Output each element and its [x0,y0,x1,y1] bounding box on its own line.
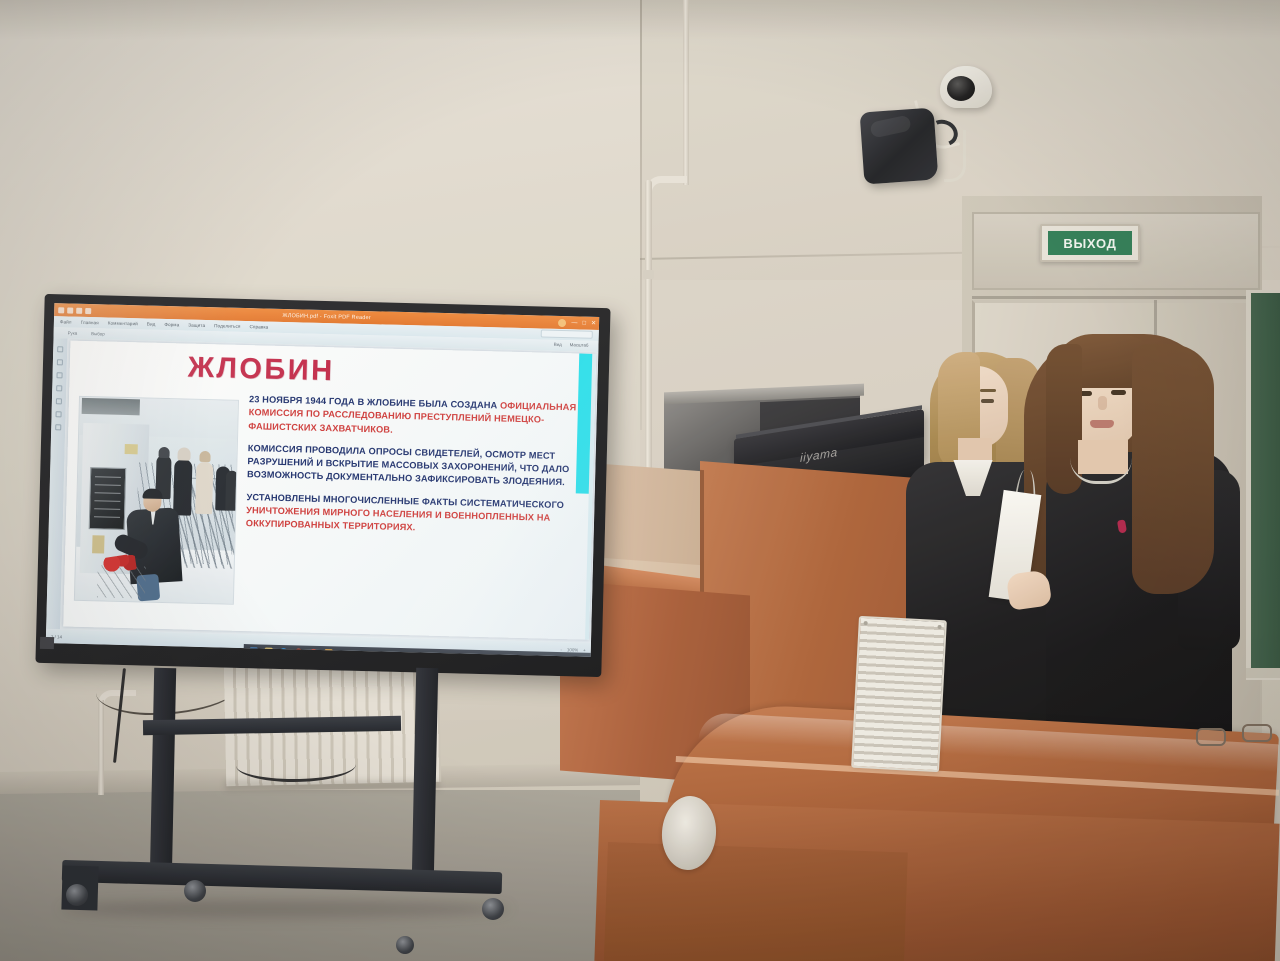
presenter-back-eye-right [981,399,994,403]
comments-icon[interactable] [56,411,62,417]
dome-camera-icon [940,66,992,108]
minimize-icon[interactable]: — [571,320,577,326]
caster-wheel-front-left [66,884,88,906]
menu-item-help[interactable]: Справка [249,324,268,329]
app-toolbar-right[interactable]: Вид Масштаб [554,342,589,348]
undo-icon [76,307,82,313]
zoom-level[interactable]: 100% [567,647,578,652]
classroom-scene: ВЫХОД iiyama [0,0,1280,961]
podium-lower-shelf [604,842,908,961]
tool-zoom[interactable]: Масштаб [570,342,589,347]
tv-screen[interactable]: ЖЛОБИН.pdf - Foxit PDF Reader — □ ✕ Файл… [46,303,599,657]
menu-item-form[interactable]: Форма [164,322,179,327]
menu-item-file[interactable]: Файл [60,319,72,324]
slide-photo [74,396,239,605]
wall-pipe-vertical [645,180,652,510]
attachments-icon[interactable] [56,372,62,378]
presenter-front-hair-right [1132,344,1214,594]
slide-body-text: 23 НОЯБРЯ 1944 ГОДА В ЖЛОБИНЕ БЫЛА СОЗДА… [245,393,587,548]
wall-speaker-icon [860,108,939,185]
exit-sign-label: ВЫХОД [1063,236,1116,251]
tool-hand[interactable]: Рука [68,331,78,336]
quick-access-toolbar[interactable] [58,307,91,314]
stand-floor-shadow [60,900,510,918]
search-panel-icon[interactable] [55,424,61,430]
speaker-highlight [869,115,911,139]
presenter-front-mouth [1090,420,1114,428]
presenter-hand [1006,569,1053,610]
photo-small-plaque [92,535,104,553]
bookmarks-icon[interactable] [57,359,63,365]
menu-item-comment[interactable]: Комментарий [108,321,138,327]
print-icon [67,307,73,313]
document-area[interactable]: ЖЛОБИН [60,339,598,643]
redo-icon [85,307,91,313]
zoom-out-button[interactable]: - [560,647,562,652]
exit-sign: ВЫХОД [1040,224,1140,262]
photo-memorial-plaque [89,467,127,530]
photo-yellow-tag [125,444,138,454]
menu-item-protect[interactable]: Защита [188,323,205,328]
camera-lens-icon [947,76,975,101]
ceiling-shadow [0,0,1280,40]
caster-wheel-front-right [482,898,504,920]
window-controls[interactable]: — □ ✕ [558,318,596,327]
chalkboard [1246,290,1280,680]
menu-item-home[interactable]: Главная [81,320,99,325]
slide-title: ЖЛОБИН [187,352,335,389]
presenter-back-brow-right [980,389,996,392]
photo-treeline [82,398,140,415]
ventilation-grille [851,616,947,772]
layers-icon[interactable] [56,385,62,391]
tool-select[interactable]: Выбор [91,331,105,336]
menu-item-view[interactable]: Вид [147,322,156,327]
caster-wheel-mid [184,880,206,902]
eyeglasses [1196,724,1272,752]
lower-pipe [98,700,104,795]
wall-pipe-upper [683,0,689,185]
tool-view[interactable]: Вид [554,342,562,347]
wall-pipe-joint [643,270,654,279]
caster-wheel-back [396,936,414,954]
zoom-in-button[interactable]: + [583,647,586,652]
presenter-front-eye-right [1111,390,1126,395]
save-icon [58,307,64,313]
chalkboard-tray [1246,668,1280,678]
maximize-icon[interactable]: □ [582,320,586,326]
door-top-edge [972,296,1260,299]
stand-column-right [412,668,438,880]
tv-brand-badge [40,637,54,649]
close-icon[interactable]: ✕ [591,320,596,327]
app-title-text: ЖЛОБИН.pdf - Foxit PDF Reader [282,312,371,320]
pdf-slide: ЖЛОБИН [63,341,596,640]
slide-p2-run1: КОМИССИЯ ПРОВОДИЛА ОПРОСЫ СВИДЕТЕЛЕЙ, ОС… [247,443,569,488]
wall-seam-vertical [640,0,642,430]
thumbnails-icon[interactable] [57,346,63,352]
search-input[interactable] [541,329,593,338]
slide-paragraph-1: 23 НОЯБРЯ 1944 ГОДА В ЖЛОБИНЕ БЫЛА СОЗДА… [248,393,587,441]
account-avatar-icon[interactable] [558,318,566,326]
slide-paragraph-2: КОМИССИЯ ПРОВОДИЛА ОПРОСЫ СВИДЕТЕЛЕЙ, ОС… [247,442,586,490]
exit-sign-face: ВЫХОД [1048,231,1132,255]
slide-paragraph-3: УСТАНОВЛЕНЫ МНОГОЧИСЛЕННЫЕ ФАКТЫ СИСТЕМА… [246,491,585,539]
signature-icon[interactable] [56,398,62,404]
slide-p3-run2: УНИЧТОЖЕНИЯ МИРНОГО НАСЕЛЕНИЯ И ВОЕННОПЛ… [246,505,551,533]
menu-item-share[interactable]: Поделиться [214,323,240,329]
presenter-front-nose [1098,396,1107,410]
radiator-shadow [225,780,440,790]
stand-column-left [150,668,176,880]
photo-officer-hair [142,488,162,499]
